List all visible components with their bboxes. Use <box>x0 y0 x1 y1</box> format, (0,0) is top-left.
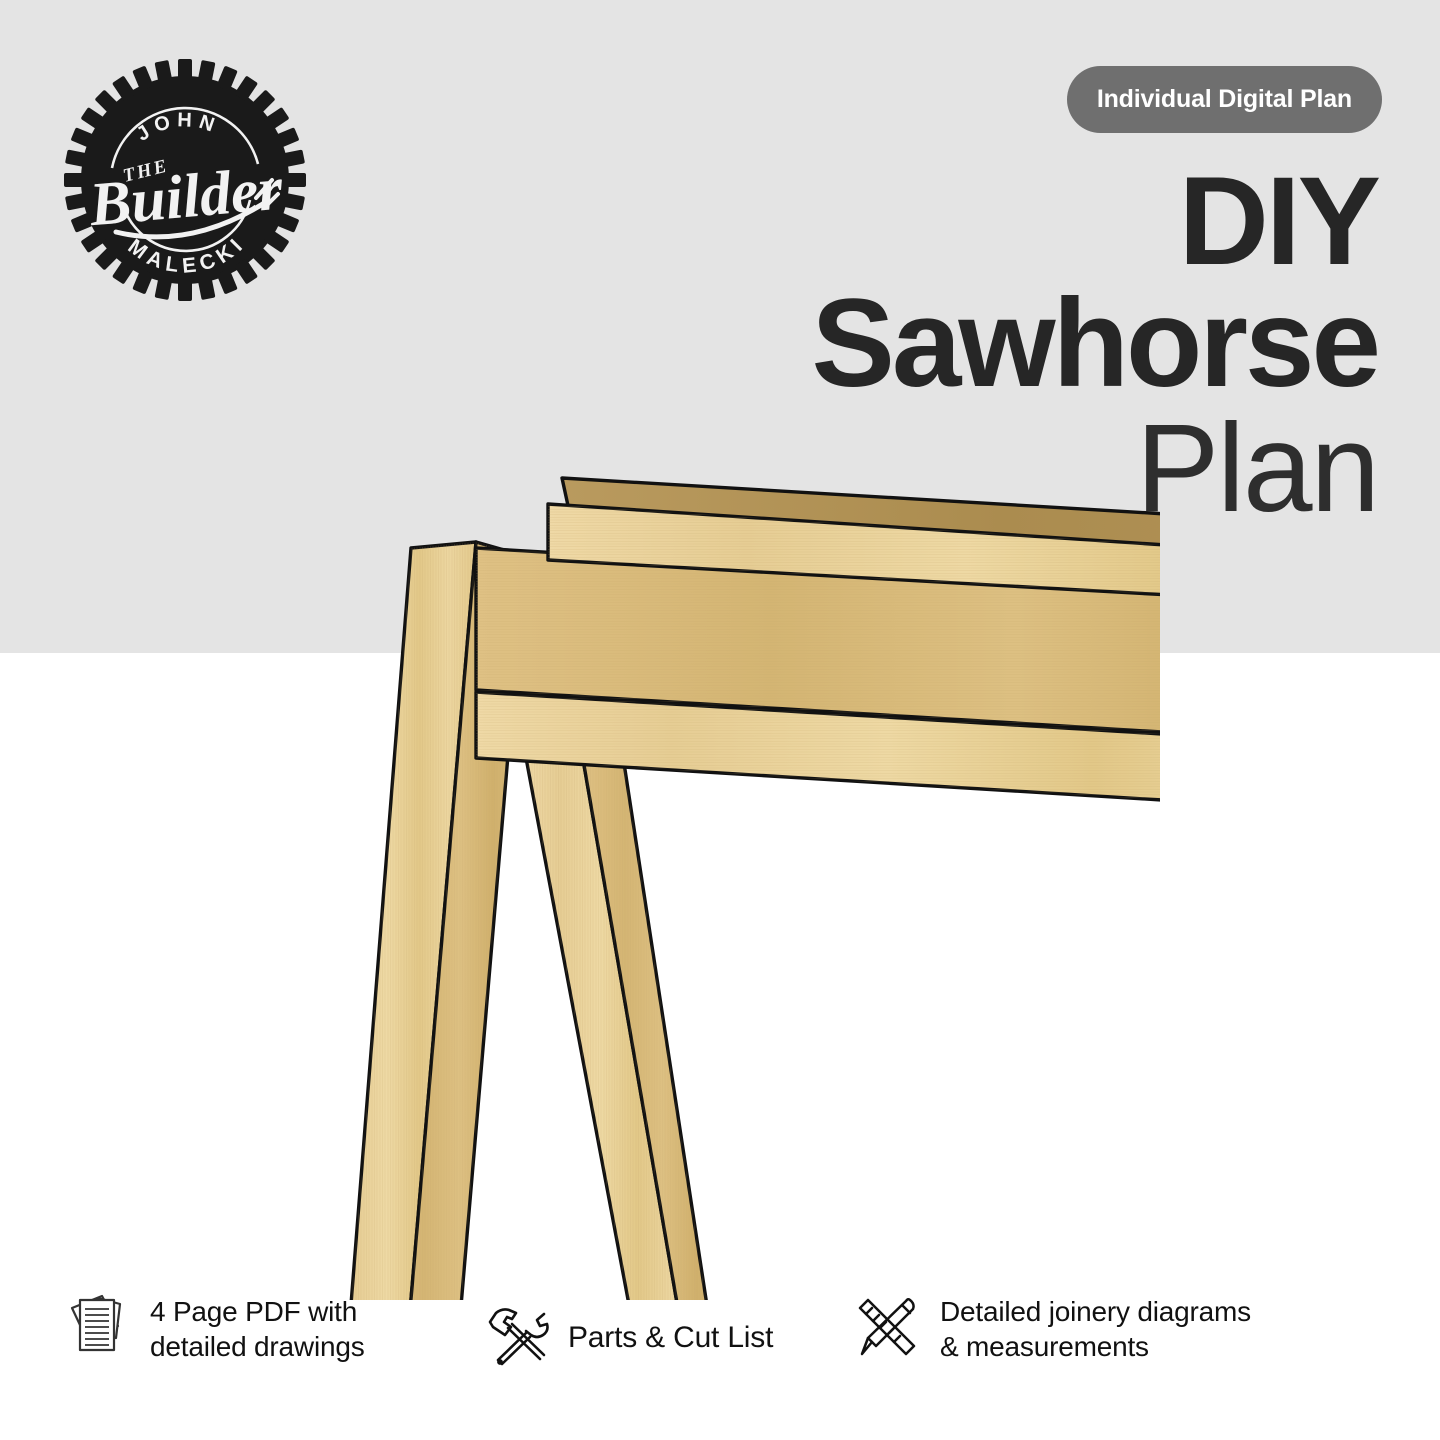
feature-label-pdf: 4 Page PDF with detailed drawings <box>150 1295 365 1364</box>
title-line-diy: DIY <box>618 158 1378 286</box>
brand-logo: JOHN THE Builder MALECKI <box>60 52 310 307</box>
feature-label-parts: Parts & Cut List <box>568 1319 773 1356</box>
feature-item-pdf: 4 Page PDF with detailed drawings <box>68 1292 365 1367</box>
sawhorse-3d-drawing <box>280 420 1160 1300</box>
stacked-documents-icon <box>68 1292 132 1367</box>
ruler-pencil-icon <box>852 1292 922 1367</box>
badge-label: Individual Digital Plan <box>1097 85 1352 114</box>
feature-strip: 4 Page PDF with detailed drawings <box>0 1288 1440 1418</box>
product-listing-graphic: JOHN THE Builder MALECKI <box>0 0 1440 1440</box>
feature-item-parts: Parts & Cut List <box>484 1302 773 1373</box>
title-line-sawhorse: Sawhorse <box>618 280 1378 408</box>
sawhorse-illustration <box>280 420 1160 1300</box>
hammer-wrench-icon <box>484 1302 550 1373</box>
feature-label-joinery: Detailed joinery diagrams & measurements <box>940 1295 1251 1364</box>
leg-back-left <box>523 742 730 1300</box>
sawblade-logo-icon: JOHN THE Builder MALECKI <box>60 52 310 307</box>
individual-digital-plan-badge[interactable]: Individual Digital Plan <box>1067 66 1382 133</box>
feature-item-joinery: Detailed joinery diagrams & measurements <box>852 1292 1251 1367</box>
